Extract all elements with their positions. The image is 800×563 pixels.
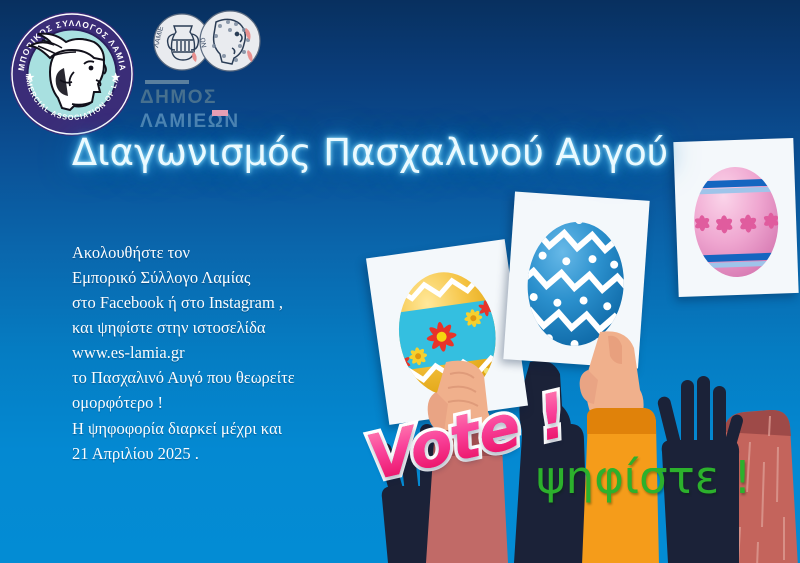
pink-egg-with-flowers xyxy=(673,138,798,297)
egg-card-pink[interactable] xyxy=(673,138,798,297)
dimos-lamieon-logo: ΛΑΜΙΕ ΩΝ ΔΗΜΟΣ ΛΑΜΙΕΩΝ xyxy=(140,10,275,135)
vote-label-gr: ψηφίστε ! xyxy=(536,455,751,500)
commercial-association-lamia-logo: ΕΜΠΟΡΙΚΟΣ ΣΥΛΛΟΓΟΣ ΛΑΜΙΑΣ COMMERCIAL ASS… xyxy=(8,10,136,138)
logo-accent-bar xyxy=(212,110,228,116)
page-title: Διαγωνισμός Πασχαλινού Αυγού xyxy=(60,132,680,174)
municipality-name-line1: ΔΗΜΟΣ xyxy=(140,88,275,107)
easter-egg-contest-poster: ΕΜΠΟΡΙΚΟΣ ΣΥΛΛΟΓΟΣ ΛΑΜΙΑΣ COMMERCIAL ASS… xyxy=(0,0,800,563)
municipality-name-line2: ΛΑΜΙΕΩΝ xyxy=(140,112,275,131)
poster-body-text: Ακολουθήστε τον Εμπορικό Σύλλογο Λαμίας … xyxy=(72,240,402,466)
raised-arm-orange xyxy=(560,330,670,563)
ancient-coins-icon: ΛΑΜΙΕ ΩΝ xyxy=(144,10,274,78)
logo-rule xyxy=(145,80,189,84)
